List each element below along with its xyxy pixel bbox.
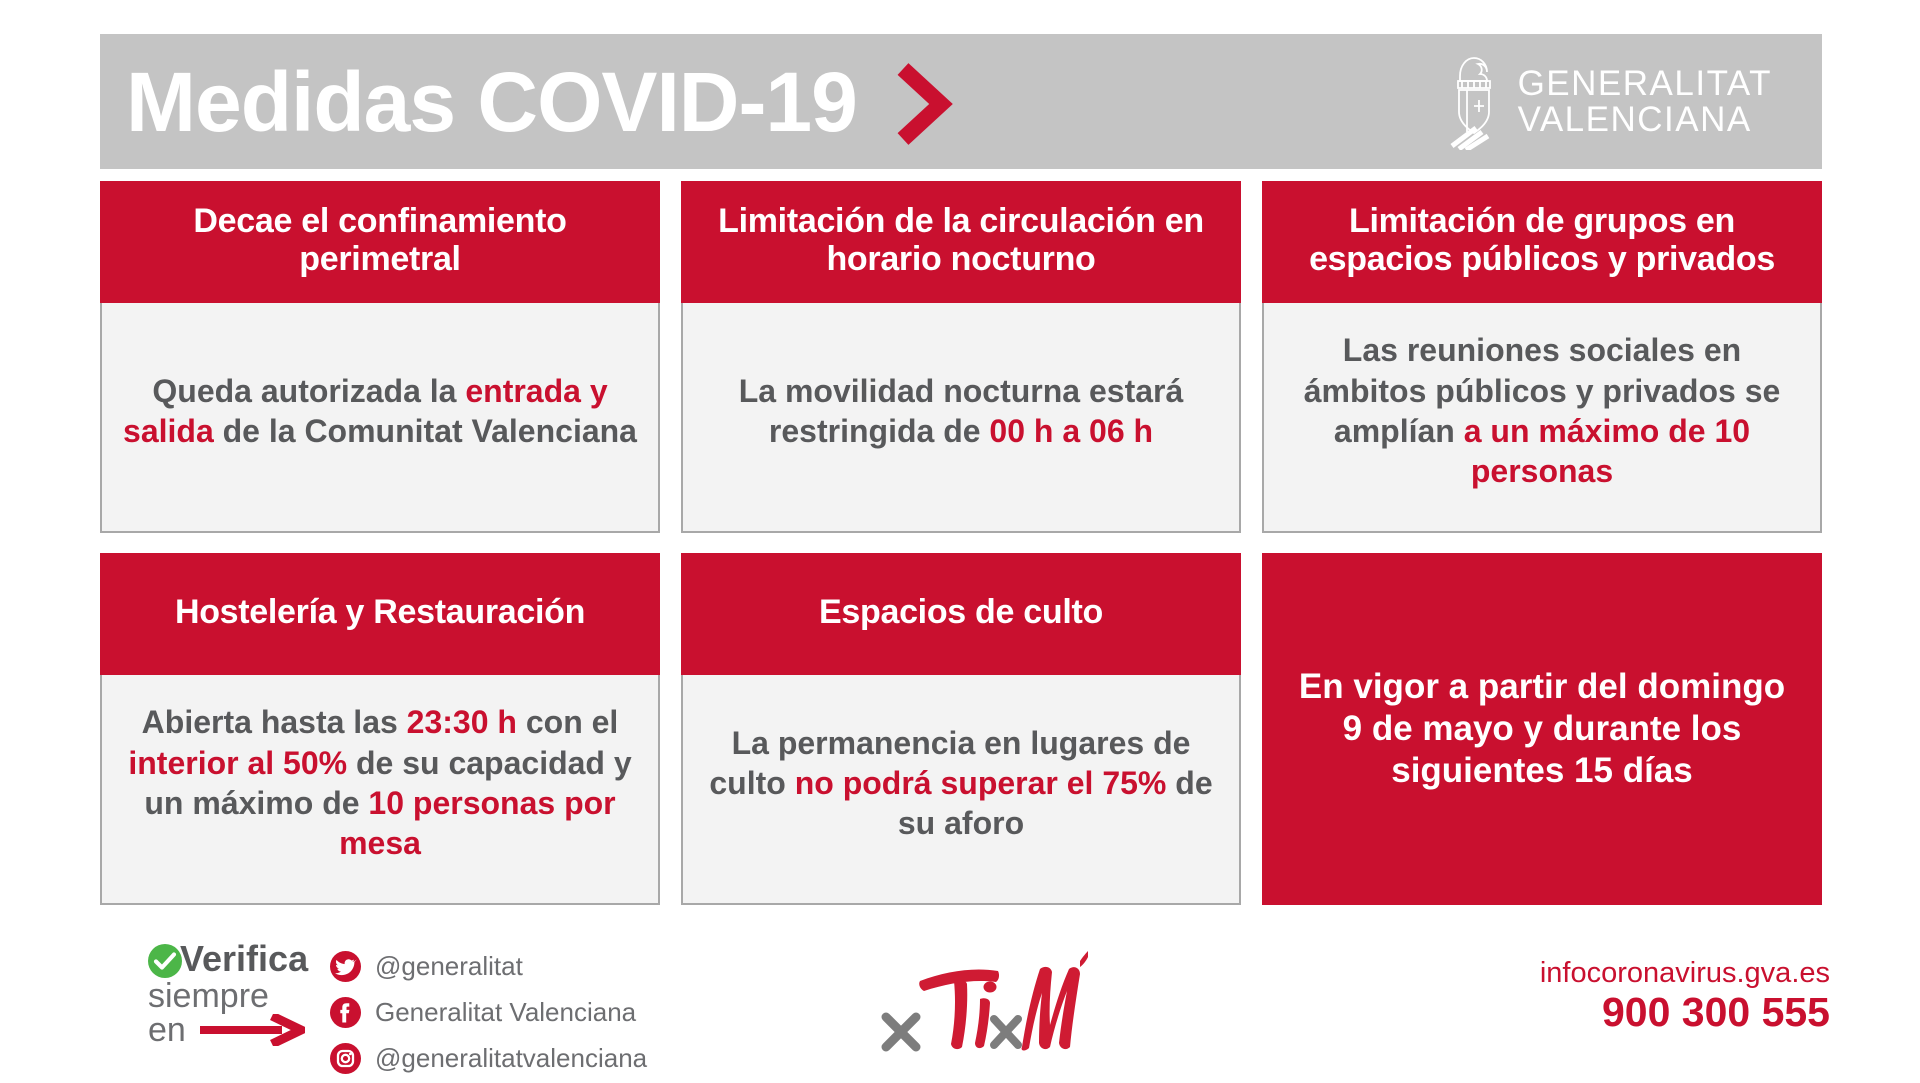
social-row-facebook[interactable]: Generalitat Valenciana bbox=[330, 991, 647, 1034]
generalitat-logo-text: GENERALITAT VALENCIANA bbox=[1518, 66, 1772, 137]
card-text: Abierta hasta las 23:30 h con el interio… bbox=[120, 702, 640, 863]
card-body: En vigor a partir del domingo 9 de mayo … bbox=[1262, 553, 1822, 905]
twitter-icon[interactable] bbox=[330, 951, 361, 982]
check-circle-icon bbox=[148, 944, 182, 978]
card-header: Hostelería y Restauración bbox=[100, 553, 660, 675]
text-segment-highlight: interior al 50% bbox=[128, 745, 347, 781]
page-footer: Verifica siempre en bbox=[0, 925, 1920, 1080]
text-segment: Queda autorizada la bbox=[152, 373, 465, 409]
card-header: Limitación de grupos en espacios público… bbox=[1262, 181, 1822, 303]
card-text: La permanencia en lugares de culto no po… bbox=[701, 723, 1221, 844]
facebook-icon[interactable] bbox=[330, 997, 361, 1028]
card-header: Limitación de la circulación en horario … bbox=[681, 181, 1241, 303]
measure-card-circulacion-nocturna: Limitación de la circulación en horario … bbox=[681, 181, 1241, 533]
social-row-instagram[interactable]: @generalitatvalenciana bbox=[330, 1037, 647, 1080]
text-segment: con el bbox=[517, 704, 618, 740]
verifica-label: Verifica bbox=[180, 941, 308, 977]
measure-card-en-vigor: En vigor a partir del domingo 9 de mayo … bbox=[1262, 553, 1822, 905]
card-body: Queda autorizada la entrada y salida de … bbox=[100, 303, 660, 533]
contact-phone[interactable]: 900 300 555 bbox=[1540, 990, 1830, 1036]
text-segment-highlight: no podrá superar el 75% bbox=[795, 765, 1167, 801]
arrow-right-icon bbox=[200, 1014, 305, 1046]
text-segment-highlight: 00 h a 06 h bbox=[989, 413, 1153, 449]
card-text: La movilidad nocturna estará restringida… bbox=[701, 371, 1221, 452]
verifica-line-3: en bbox=[148, 1013, 186, 1047]
card-title: Decae el confinamiento perimetral bbox=[114, 202, 646, 278]
social-handle[interactable]: @generalitatvalenciana bbox=[375, 1043, 647, 1074]
card-body: La movilidad nocturna estará restringida… bbox=[681, 303, 1241, 533]
card-title: Espacios de culto bbox=[819, 593, 1103, 631]
card-title: Limitación de grupos en espacios público… bbox=[1276, 202, 1808, 278]
infographic-page: Medidas COVID-19 bbox=[0, 0, 1920, 1080]
card-text: En vigor a partir del domingo 9 de mayo … bbox=[1288, 666, 1796, 792]
social-handle[interactable]: Generalitat Valenciana bbox=[375, 997, 636, 1028]
card-title: Hostelería y Restauración bbox=[175, 593, 585, 631]
instagram-icon[interactable] bbox=[330, 1043, 361, 1074]
generalitat-logo: GENERALITAT VALENCIANA bbox=[1446, 54, 1772, 150]
measures-grid: Decae el confinamiento perimetral Queda … bbox=[100, 181, 1822, 905]
card-header: Decae el confinamiento perimetral bbox=[100, 181, 660, 303]
logo-line-2: VALENCIANA bbox=[1518, 102, 1772, 138]
measure-card-grupos: Limitación de grupos en espacios público… bbox=[1262, 181, 1822, 533]
text-segment-highlight: 10 personas por mesa bbox=[339, 785, 616, 861]
contact-url[interactable]: infocoronavirus.gva.es bbox=[1540, 957, 1830, 990]
card-text: Queda autorizada la entrada y salida de … bbox=[120, 371, 640, 452]
logo-line-1: GENERALITAT bbox=[1518, 66, 1772, 102]
generalitat-shield-icon bbox=[1446, 54, 1502, 150]
card-body: La permanencia en lugares de culto no po… bbox=[681, 675, 1241, 905]
card-header: Espacios de culto bbox=[681, 553, 1241, 675]
text-segment: de la Comunitat Valenciana bbox=[214, 413, 637, 449]
card-body: Abierta hasta las 23:30 h con el interio… bbox=[100, 675, 660, 905]
measure-card-hosteleria: Hostelería y Restauración Abierta hasta … bbox=[100, 553, 660, 905]
measure-card-confinamiento: Decae el confinamiento perimetral Queda … bbox=[100, 181, 660, 533]
card-body: Las reuniones sociales en ámbitos públic… bbox=[1262, 303, 1822, 533]
social-handle[interactable]: @generalitat bbox=[375, 951, 523, 982]
text-segment-highlight: a un máximo de 10 personas bbox=[1464, 413, 1750, 489]
card-text: Las reuniones sociales en ámbitos públic… bbox=[1282, 330, 1802, 491]
social-row-twitter[interactable]: @generalitat bbox=[330, 945, 647, 988]
page-header: Medidas COVID-19 bbox=[100, 34, 1822, 169]
card-title: Limitación de la circulación en horario … bbox=[695, 202, 1227, 278]
social-links: @generalitat Generalitat Valenciana bbox=[330, 945, 647, 1083]
xtixmi-logo bbox=[876, 943, 1088, 1063]
text-segment: Abierta hasta las bbox=[142, 704, 407, 740]
measure-card-espacios-culto: Espacios de culto La permanencia en luga… bbox=[681, 553, 1241, 905]
page-title: Medidas COVID-19 bbox=[126, 60, 857, 144]
contact-info: infocoronavirus.gva.es 900 300 555 bbox=[1540, 957, 1830, 1036]
chevron-right-icon bbox=[891, 63, 953, 145]
text-segment-highlight: 23:30 h bbox=[407, 704, 517, 740]
